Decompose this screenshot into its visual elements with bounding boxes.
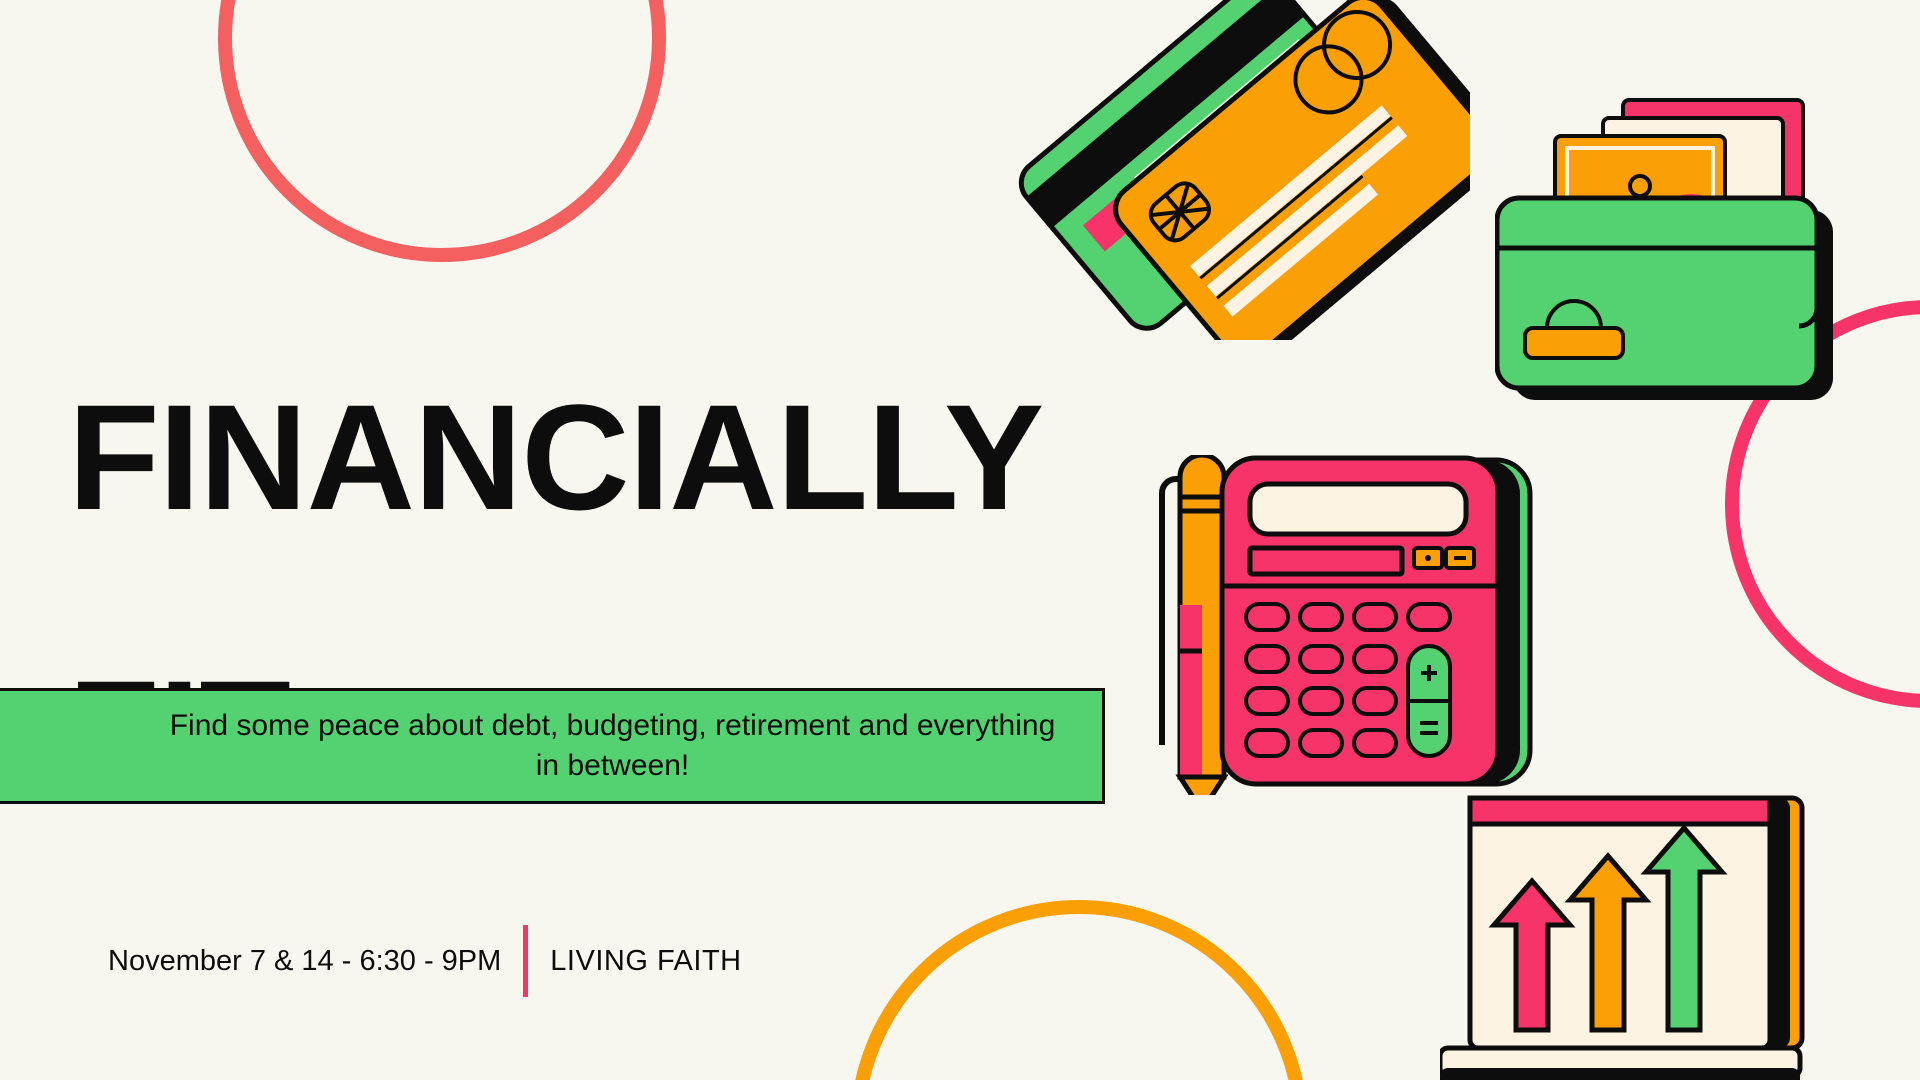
organization-name: LIVING FAITH <box>550 945 741 978</box>
poster-canvas: FINANCIALLY FIT Find some peace about de… <box>0 0 1920 1080</box>
calculator-screen <box>1250 484 1466 534</box>
page-title: FINANCIALLY FIT <box>68 250 1043 940</box>
footer-details: November 7 & 14 - 6:30 - 9PM LIVING FAIT… <box>108 925 742 997</box>
footer-divider <box>523 925 528 997</box>
wallet-illustration <box>1495 80 1875 420</box>
headline-line-1: FINANCIALLY <box>68 388 1043 526</box>
calculator-illustration <box>1218 452 1548 802</box>
subtitle-banner: Find some peace about debt, budgeting, r… <box>0 688 1105 804</box>
pen-illustration <box>1140 455 1230 795</box>
credit-cards-illustration <box>1000 0 1470 340</box>
calculator-subbar <box>1250 548 1402 574</box>
red-circle-outline <box>218 0 666 262</box>
chart-board-header <box>1470 798 1770 824</box>
event-date-time: November 7 & 14 - 6:30 - 9PM <box>108 945 501 978</box>
growth-chart-illustration <box>1440 790 1860 1080</box>
wallet-clasp <box>1525 328 1623 358</box>
subtitle-text: Find some peace about debt, budgeting, r… <box>33 706 1063 786</box>
